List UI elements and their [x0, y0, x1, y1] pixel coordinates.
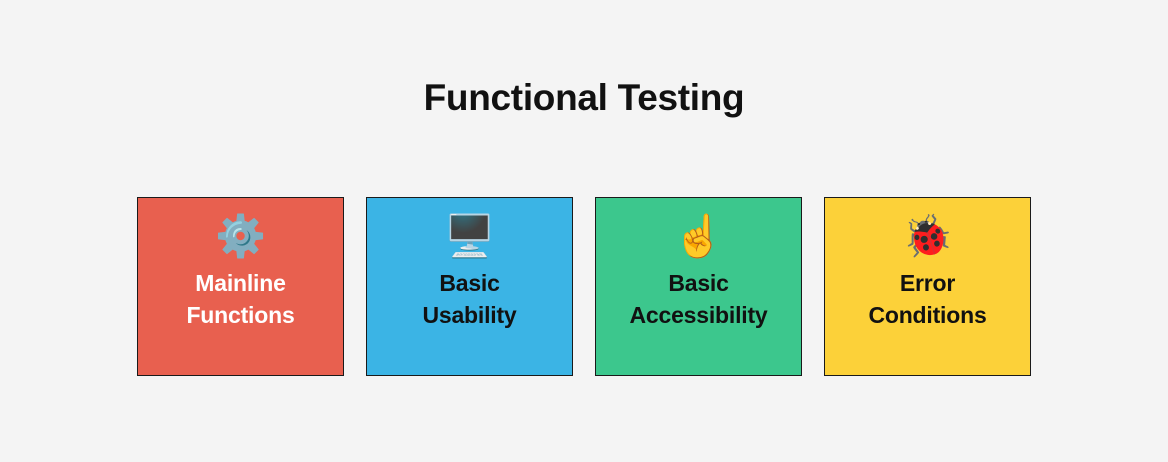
- pointing-up-finger-icon: ☝️: [673, 210, 724, 262]
- category-card-label: Mainline Functions: [138, 268, 343, 331]
- category-card-mainline-functions[interactable]: ⚙️ Mainline Functions: [137, 197, 344, 376]
- ladybug-icon: 🐞: [902, 210, 953, 262]
- category-card-label: Basic Usability: [367, 268, 572, 331]
- category-card-error-conditions[interactable]: 🐞 Error Conditions: [824, 197, 1031, 376]
- slide-canvas: Functional Testing ⚙️ Mainline Functions…: [0, 0, 1168, 462]
- page-title: Functional Testing: [0, 78, 1168, 119]
- category-card-label: Error Conditions: [825, 268, 1030, 331]
- gear-icon: ⚙️: [215, 210, 266, 262]
- category-card-basic-accessibility[interactable]: ☝️ Basic Accessibility: [595, 197, 802, 376]
- desktop-computer-icon: 🖥️: [444, 210, 495, 262]
- category-card-label: Basic Accessibility: [596, 268, 801, 331]
- category-card-basic-usability[interactable]: 🖥️ Basic Usability: [366, 197, 573, 376]
- category-card-row: ⚙️ Mainline Functions 🖥️ Basic Usability…: [137, 197, 1031, 376]
